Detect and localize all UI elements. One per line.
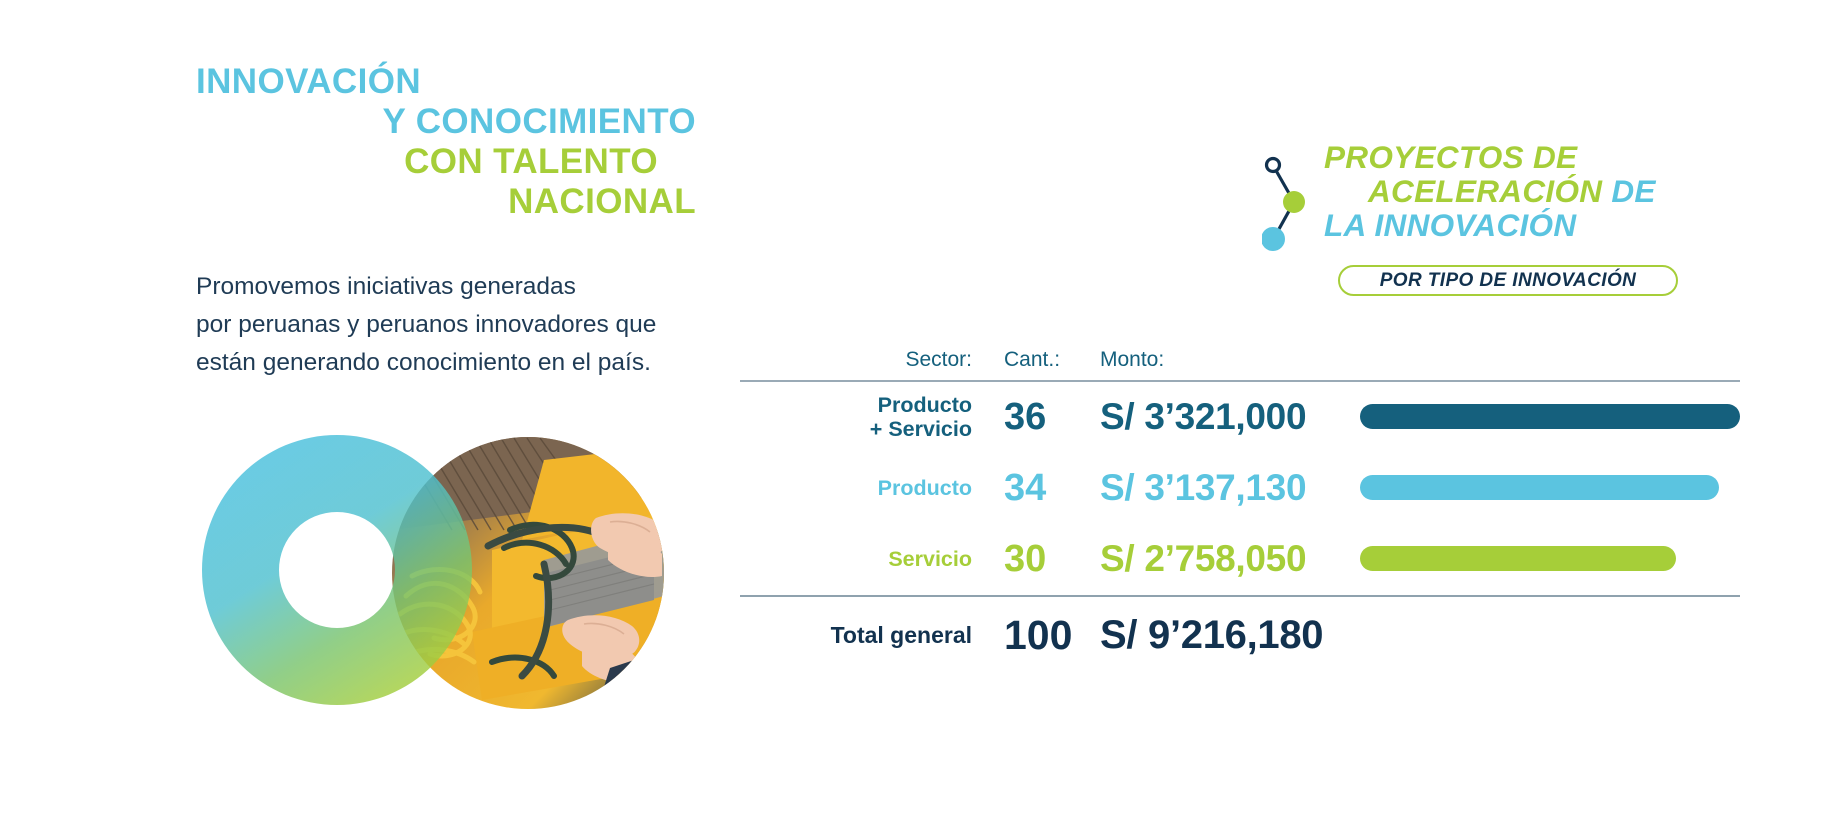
page-title: INNOVACIÓN Y CONOCIMIENTO CON TALENTO NA… [196,62,696,222]
left-panel: INNOVACIÓN Y CONOCIMIENTO CON TALENTO NA… [0,0,780,830]
row-bar-track [1360,475,1740,501]
total-count: 100 [990,612,1100,659]
row-amount: S/ 3’137,130 [1100,467,1360,509]
section-title-line-1: PROYECTOS DE [1324,140,1844,174]
total-amount: S/ 9’216,180 [1100,613,1360,658]
right-panel: PROYECTOS DE ACELERACIÓN DE LA INNOVACIÓ… [780,0,1848,830]
row-sector-line-1: Servicio [740,547,972,571]
row-bar-fill [1360,404,1740,429]
section-title: PROYECTOS DE ACELERACIÓN DE LA INNOVACIÓ… [1324,140,1844,242]
row-sector-label: Producto + Servicio [740,393,990,441]
donut-ring-icon [192,400,702,740]
section-title-aceleracion: ACELERACIÓN [1368,173,1602,209]
row-bar-fill [1360,546,1676,571]
network-nodes-icon [1262,154,1314,254]
table-header-row: Sector: Cant.: Monto: [740,340,1740,380]
table-row: Servicio 30 S/ 2’758,050 [740,524,1740,595]
row-bar-track [1360,546,1740,572]
headline-line-3: CON TALENTO [196,142,696,182]
donut-ring [202,435,472,705]
status-badge: POR TIPO DE INNOVACIÓN [1338,265,1678,296]
column-header-cant: Cant.: [990,348,1100,372]
intro-line-1: Promovemos iniciativas generadas [196,268,756,306]
row-count: 34 [990,467,1100,510]
row-sector-line-2: + Servicio [740,417,972,441]
headline-line-2: Y CONOCIMIENTO [196,102,696,142]
section-title-line-2: ACELERACIÓN DE [1324,174,1844,208]
table-row: Producto + Servicio 36 S/ 3’321,000 [740,382,1740,453]
row-sector-label: Servicio [740,547,990,571]
column-header-bar-spacer [1360,347,1740,373]
row-amount: S/ 2’758,050 [1100,538,1360,580]
total-label: Total general [740,622,990,649]
column-header-sector: Sector: [740,348,990,372]
section-title-de: DE [1611,173,1655,209]
column-header-monto: Monto: [1100,348,1360,372]
innovation-table: Sector: Cant.: Monto: Producto + Servici… [740,340,1740,675]
row-sector-line-1: Producto [740,393,972,417]
table-row: Producto 34 S/ 3’137,130 [740,453,1740,524]
row-sector-line-1: Producto [740,476,972,500]
row-sector-label: Producto [740,476,990,500]
table-total-row: Total general 100 S/ 9’216,180 [740,597,1740,675]
headline-line-1: INNOVACIÓN [196,62,696,102]
intro-line-2: por peruanas y peruanos innovadores que [196,306,756,344]
row-bar-track [1360,404,1740,430]
total-bar-spacer [1360,623,1740,649]
row-count: 36 [990,396,1100,439]
intro-paragraph: Promovemos iniciativas generadas por per… [196,268,756,382]
row-count: 30 [990,538,1100,581]
row-bar-fill [1360,475,1719,500]
intro-line-3: están generando conocimiento en el país. [196,344,756,382]
donut-photo-graphic [192,400,702,740]
badge-label: POR TIPO DE INNOVACIÓN [1380,270,1637,292]
row-amount: S/ 3’321,000 [1100,396,1360,438]
headline-line-4: NACIONAL [196,182,696,222]
section-title-line-3: LA INNOVACIÓN [1324,208,1844,242]
